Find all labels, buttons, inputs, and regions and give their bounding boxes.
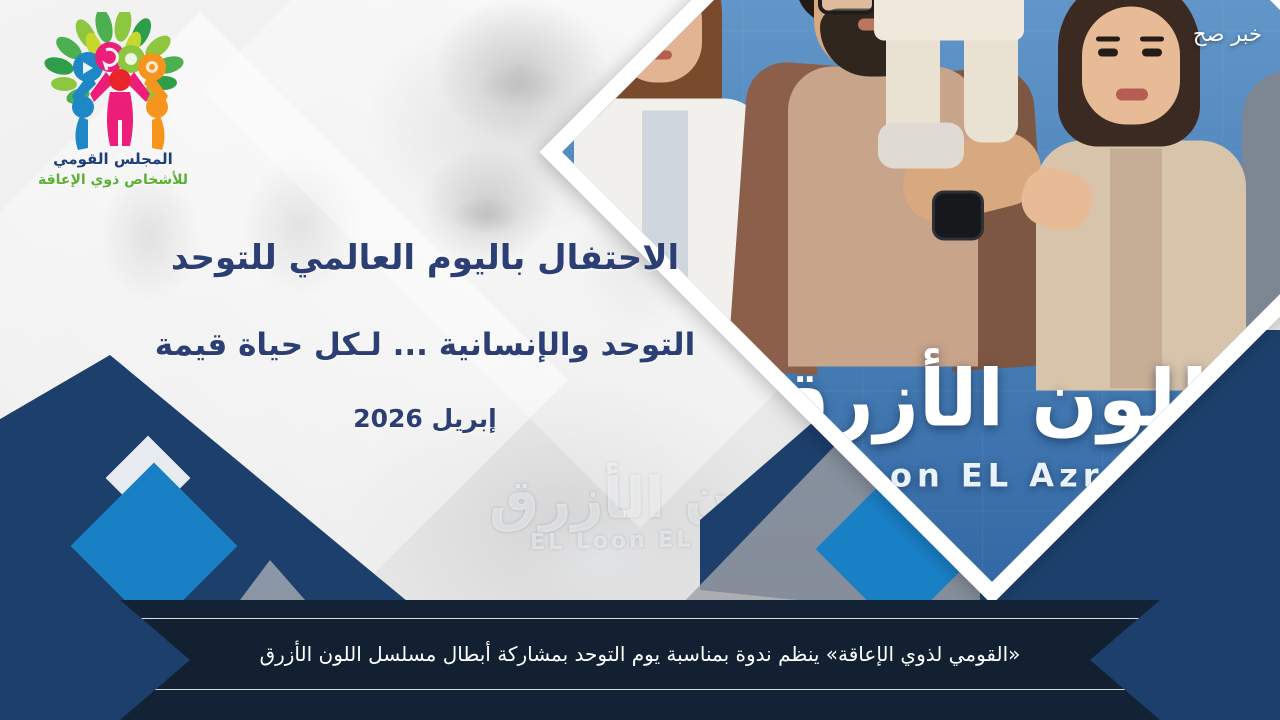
figure-woman-right-eye-right: [1142, 48, 1162, 56]
figure-woman-right-eye-left: [1098, 48, 1118, 56]
headline-line-1: الاحتفال باليوم العالمي للتوحد: [110, 238, 740, 279]
figure-woman-right-lips: [1116, 88, 1148, 100]
logo-line-1: المجلس القومي: [28, 150, 198, 168]
figure-woman-right-face: [1082, 6, 1180, 124]
headline-date: إبريل 2026: [110, 404, 740, 433]
figure-boy-shoes: [878, 122, 964, 168]
figure-woman-left-lips: [646, 50, 672, 59]
logo-line-2: للأشخاص ذوي الإعاقة: [28, 172, 198, 188]
figure-woman-right-lapel: [1110, 148, 1162, 388]
figure-father-wristwatch: [932, 190, 984, 240]
banner-stage: اللون الأزرق EL Loon EL Azraq: [0, 0, 1280, 720]
headline-line-2: التوحد والإنسانية ... لـكل حياة قيمة: [110, 327, 740, 364]
caption-bar: «القومي لذوي الإعاقة» ينظم ندوة بمناسبة …: [22, 618, 1258, 690]
figure-father-glasses-left: [818, 0, 876, 14]
headline-block: الاحتفال باليوم العالمي للتوحد التوحد وا…: [110, 238, 740, 364]
organisation-logo: المجلس القومي للأشخاص ذوي الإعاقة: [28, 12, 198, 197]
figure-boy-sweater: [874, 0, 1024, 40]
figure-woman-right-brow-left: [1096, 36, 1120, 41]
caption-text: «القومي لذوي الإعاقة» ينظم ندوة بمناسبة …: [260, 642, 1021, 666]
tree-with-people-icon: [28, 12, 198, 152]
watermark-label: خبر صح: [1193, 22, 1262, 46]
figure-woman-right-brow-right: [1140, 36, 1164, 41]
